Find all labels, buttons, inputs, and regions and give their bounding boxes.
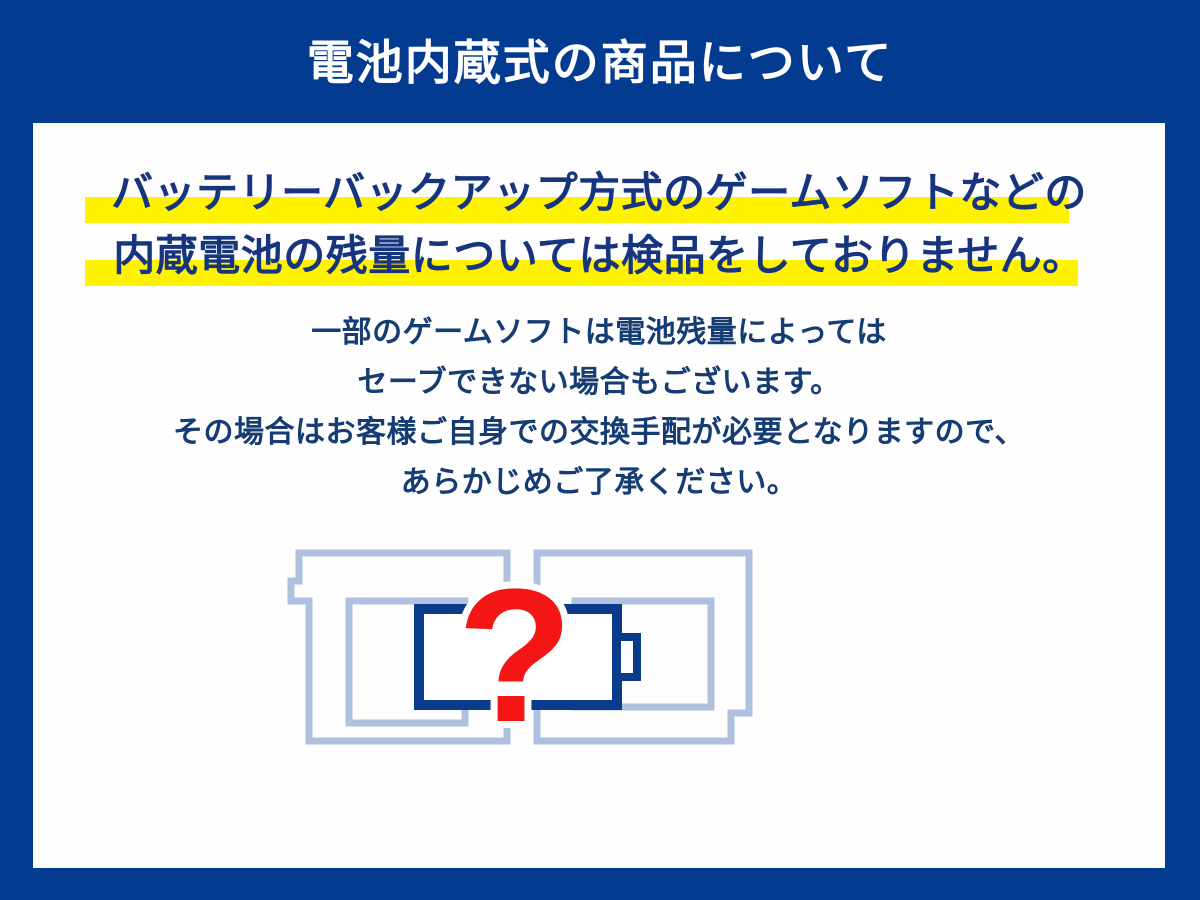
headline-line-2: 内蔵電池の残量については検品をしておりません。 [33,224,1165,287]
battery-terminal [617,637,637,677]
body-line-1: 一部のゲームソフトは電池残量によっては [33,308,1165,358]
question-mark-icon: ? ? [457,550,573,762]
body-paragraph: 一部のゲームソフトは電池残量によっては セーブできない場合もございます。 その場… [33,308,1165,508]
body-line-2: セーブできない場合もございます。 [33,358,1165,408]
cartridge-battery-illustration: ? ? [279,543,919,773]
body-line-4: あらかじめご了承ください。 [33,458,1165,508]
headline-line-1: バッテリーバックアップ方式のゲームソフトなどの [33,161,1165,224]
content-card: バッテリーバックアップ方式のゲームソフトなどの 内蔵電池の残量については検品をし… [33,123,1165,868]
slide-root: 電池内蔵式の商品について バッテリーバックアップ方式のゲームソフトなどの 内蔵電… [0,0,1200,900]
headline-text-2: 内蔵電池の残量については検品をしておりません。 [113,232,1085,279]
illustration-area: ? ? [33,543,1165,843]
header-bar: 電池内蔵式の商品について [0,0,1200,123]
page-title: 電池内蔵式の商品について [307,39,894,86]
svg-text:?: ? [457,550,573,762]
headline-text-1: バッテリーバックアップ方式のゲームソフトなどの [111,169,1087,216]
headline-block: バッテリーバックアップ方式のゲームソフトなどの 内蔵電池の残量については検品をし… [33,161,1165,287]
body-line-3: その場合はお客様ご自身での交換手配が必要となりますので、 [33,408,1165,458]
